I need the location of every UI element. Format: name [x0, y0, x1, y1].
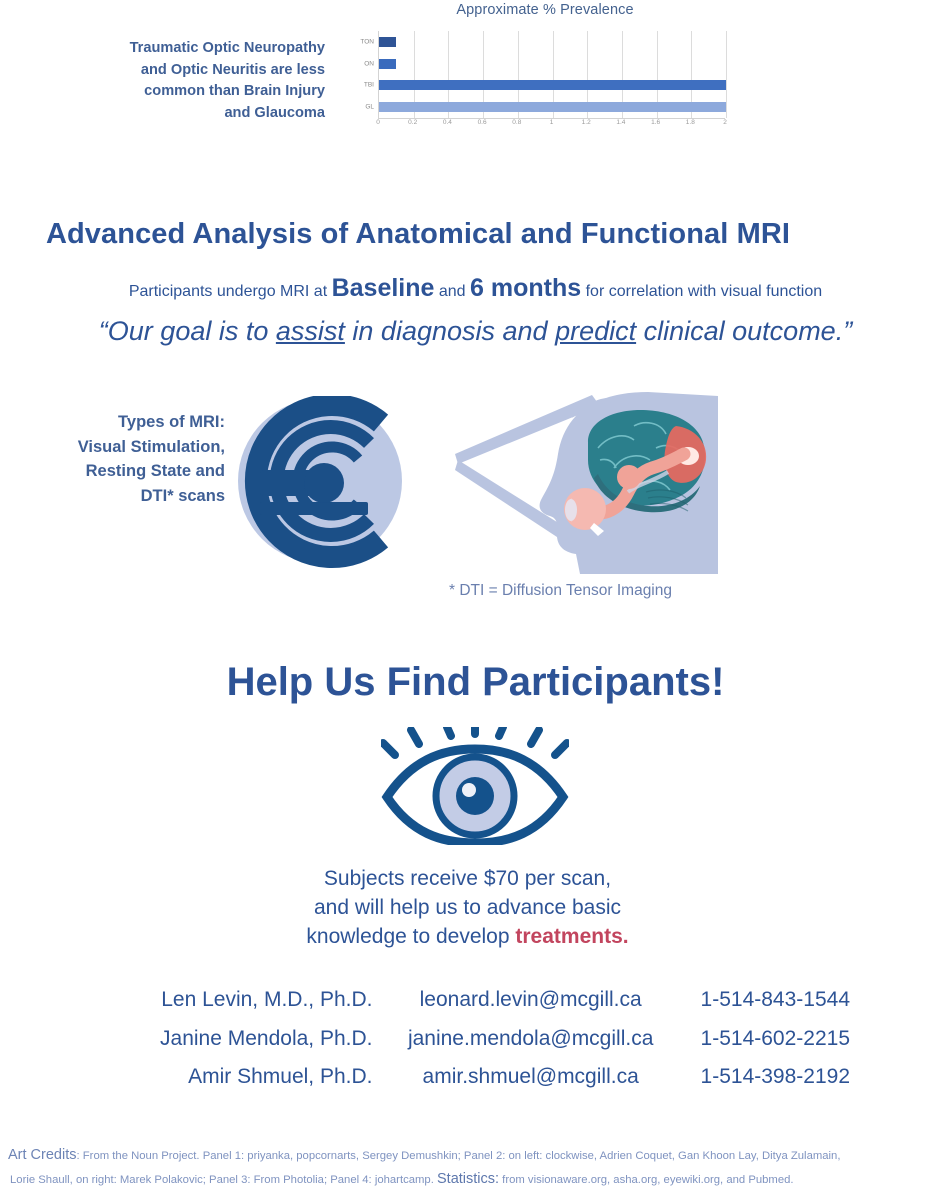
dti-footnote: * DTI = Diffusion Tensor Imaging	[0, 582, 951, 600]
goal-quote-close: clinical outcome.”	[636, 316, 852, 346]
contact-email[interactable]: amir.shmuel@mcgill.ca	[395, 1065, 667, 1089]
credits-line-2-rest: Lorie Shaull, on right: Marek Polakovic;…	[10, 1174, 434, 1186]
contact-email[interactable]: janine.mendola@mcgill.ca	[395, 1027, 667, 1051]
chart-plot-area: GLTBIONTON	[378, 31, 726, 118]
contact-name: Janine Mendola, Ph.D.	[120, 1027, 395, 1051]
chart-x-tick-label: 1.6	[651, 119, 660, 126]
goal-word-assist: assist	[276, 316, 345, 346]
subjects-line-1: Subjects receive $70 per scan,	[324, 867, 611, 890]
baseline-part1: Participants undergo MRI at	[129, 283, 332, 300]
chart-x-tick-label: 0.8	[512, 119, 521, 126]
goal-word-predict: predict	[555, 316, 636, 346]
chart-bar	[379, 102, 726, 112]
credits-line-2: Lorie Shaull, on right: Marek Polakovic;…	[8, 1168, 943, 1192]
subjects-compensation-inner: Subjects receive $70 per scan, and will …	[306, 864, 628, 951]
art-credits-footer: Art Credits: From the Noun Project. Pane…	[8, 1144, 943, 1191]
chart-title: Approximate % Prevalence	[355, 2, 735, 18]
chart-bar	[379, 59, 396, 69]
contact-list: Len Levin, M.D., Ph.D. leonard.levin@mcg…	[120, 988, 850, 1104]
chart-x-tick-label: 1	[550, 119, 554, 126]
statistics-label: Statistics:	[437, 1171, 499, 1187]
contact-row: Janine Mendola, Ph.D. janine.mendola@mcg…	[120, 1027, 850, 1066]
contact-row: Amir Shmuel, Ph.D. amir.shmuel@mcgill.ca…	[120, 1065, 850, 1104]
head-brain-illustration	[528, 392, 728, 577]
mri-section-heading: Advanced Analysis of Anatomical and Func…	[0, 218, 951, 251]
eye-icon	[381, 727, 569, 845]
mri-types-line: Resting State and	[30, 459, 225, 484]
chart-caption-line: common than Brain Injury	[95, 81, 325, 103]
chart-caption-line: and Glaucoma	[95, 103, 325, 125]
credits-line-1-rest: : From the Noun Project. Panel 1: priyan…	[77, 1150, 841, 1162]
chart-bar	[379, 37, 396, 47]
dti-footnote-text: * DTI = Diffusion Tensor Imaging	[449, 582, 672, 600]
chart-x-axis: 00.20.40.60.811.21.41.61.82	[378, 119, 725, 133]
chart-x-tick-label: 0.2	[408, 119, 417, 126]
chart-gridline	[726, 31, 727, 118]
chart-x-tick-label: 0	[376, 119, 380, 126]
chart-category-label: TON	[360, 38, 374, 45]
chart-x-tick-label: 1.8	[686, 119, 695, 126]
chart-bar	[379, 80, 726, 90]
contact-name: Amir Shmuel, Ph.D.	[120, 1065, 395, 1089]
baseline-timeline-line: Participants undergo MRI at Baseline and…	[0, 274, 951, 303]
chart-category-label: GL	[365, 104, 374, 111]
chart-x-tick-label: 1.2	[582, 119, 591, 126]
chart-category-label: TBI	[364, 82, 374, 89]
goal-quote-open: “Our goal is to	[99, 316, 276, 346]
contact-email[interactable]: leonard.levin@mcgill.ca	[395, 988, 667, 1012]
contact-phone[interactable]: 1-514-843-1544	[667, 988, 850, 1012]
baseline-emphasis: Baseline	[332, 274, 435, 302]
chart-x-tick-label: 0.6	[478, 119, 487, 126]
mri-types-caption: Types of MRI: Visual Stimulation, Restin…	[30, 410, 225, 508]
prevalence-chart-panel: Approximate % Prevalence Traumatic Optic…	[0, 0, 951, 150]
statistics-sources: from visionaware.org, asha.org, eyewiki.…	[499, 1174, 794, 1186]
six-months-emphasis: 6 months	[470, 274, 581, 302]
mri-types-line: Visual Stimulation,	[30, 435, 225, 460]
contact-row: Len Levin, M.D., Ph.D. leonard.levin@mcg…	[120, 988, 850, 1027]
chart-caption-line: and Optic Neuritis are less	[95, 60, 325, 82]
mri-types-line: Types of MRI:	[30, 410, 225, 435]
contact-phone[interactable]: 1-514-602-2215	[667, 1027, 850, 1051]
goal-quote-mid: in diagnosis and	[345, 316, 555, 346]
baseline-part2: and	[434, 283, 470, 300]
mri-types-line: DTI* scans	[30, 484, 225, 509]
subjects-line-2: and will help us to advance basic	[314, 896, 621, 919]
chart-x-tick-label: 2	[723, 119, 727, 126]
mri-section-heading-text: Advanced Analysis of Anatomical and Func…	[46, 218, 790, 251]
goal-quote-line: “Our goal is to assist in diagnosis and …	[0, 316, 951, 347]
subjects-compensation-text: Subjects receive $70 per scan, and will …	[0, 864, 951, 951]
contact-phone[interactable]: 1-514-398-2192	[667, 1065, 850, 1089]
chart-category-label: ON	[364, 60, 374, 67]
baseline-part3: for correlation with visual function	[581, 283, 822, 300]
chart-x-tick-label: 0.4	[443, 119, 452, 126]
contact-name: Len Levin, M.D., Ph.D.	[120, 988, 395, 1012]
chart-caption: Traumatic Optic Neuropathy and Optic Neu…	[95, 38, 325, 124]
mri-scanner-icon	[238, 396, 403, 571]
credits-lead-label: Art Credits	[8, 1147, 77, 1163]
credits-line-1: Art Credits: From the Noun Project. Pane…	[8, 1144, 943, 1168]
subjects-line-3: knowledge to develop	[306, 925, 515, 948]
recruitment-heading: Help Us Find Participants!	[0, 660, 951, 705]
chart-caption-line: Traumatic Optic Neuropathy	[95, 38, 325, 60]
treatments-highlight: treatments.	[515, 925, 628, 948]
chart-x-tick-label: 1.4	[616, 119, 625, 126]
